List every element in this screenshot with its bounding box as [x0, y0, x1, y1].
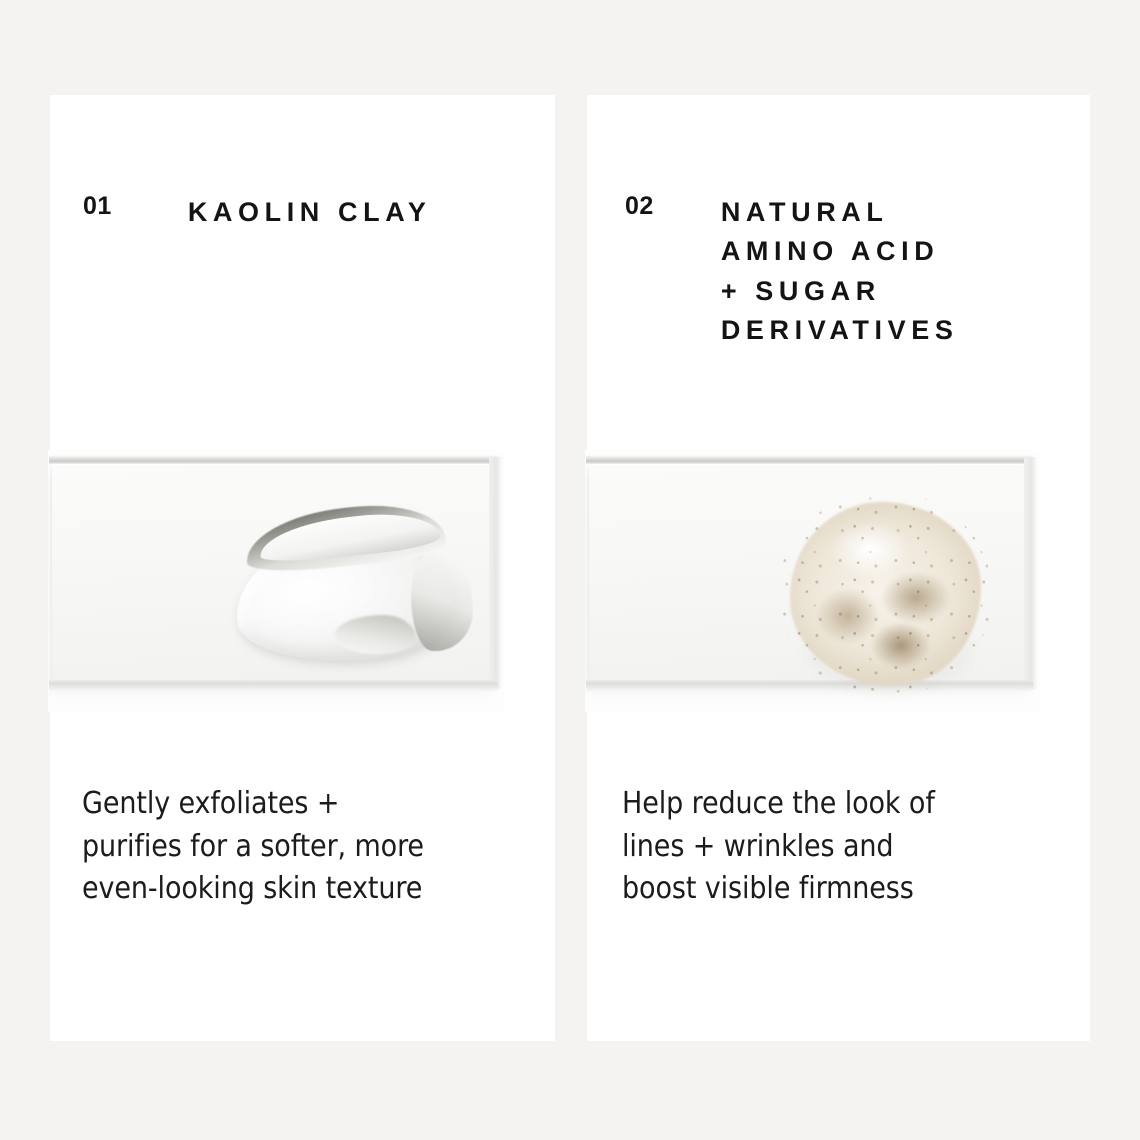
card-2-headline-row: 02 NATURAL AMINO ACID + SUGAR DERIVATIVE… [587, 193, 1090, 351]
clay-swatch [231, 508, 469, 670]
card-1-headline: KAOLIN CLAY [188, 193, 432, 232]
kaolin-clay-photo [48, 450, 505, 712]
ingredient-cards-layout: 01 KAOLIN CLAY Gently exfoliates + purif… [0, 0, 1140, 1140]
card-2-description: Help reduce the look of lines + wrinkles… [622, 783, 1042, 911]
card-1-description: Gently exfoliates + purifies for a softe… [82, 783, 532, 911]
tile-right-edge [489, 457, 502, 689]
powder-grain-texture [778, 491, 992, 696]
clay-tail [411, 550, 473, 651]
card-2-headline: NATURAL AMINO ACID + SUGAR DERIVATIVES [721, 193, 959, 351]
card-2-step-number: 02 [625, 193, 654, 221]
ingredient-card-2[interactable]: 02 NATURAL AMINO ACID + SUGAR DERIVATIVE… [587, 95, 1090, 1041]
card-1-product-image [48, 450, 505, 712]
clay-notch [335, 615, 416, 654]
ingredient-card-1[interactable]: 01 KAOLIN CLAY Gently exfoliates + purif… [50, 95, 555, 1041]
tile-right-edge [1024, 457, 1037, 689]
card-1-step-number: 01 [83, 193, 112, 221]
card-2-product-image [585, 450, 1040, 712]
powder-mound [790, 502, 981, 685]
amino-acid-powder-photo [585, 450, 1040, 712]
card-1-headline-row: 01 KAOLIN CLAY [50, 193, 555, 232]
